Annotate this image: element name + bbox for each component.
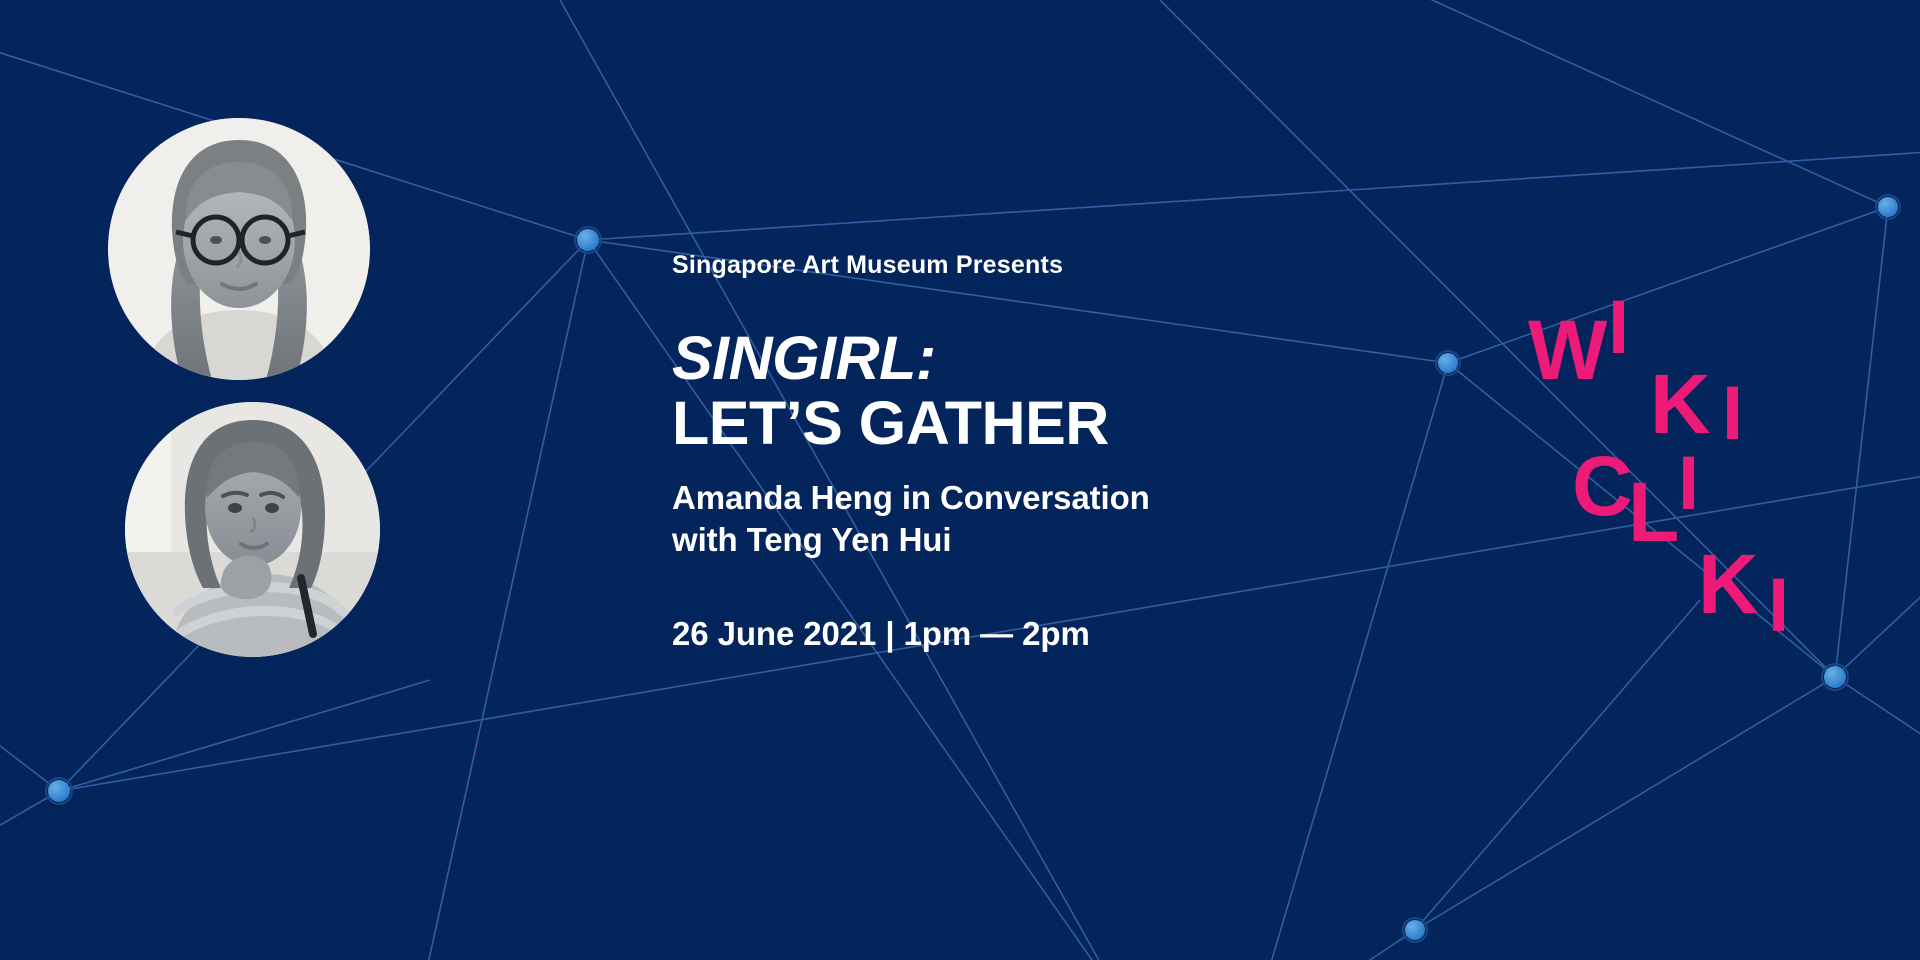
banner-copy: Singapore Art Museum Presents SINGIRL: L…	[672, 250, 1312, 653]
page-title: SINGIRL: LET’S GATHER	[672, 326, 1312, 457]
event-banner: Singapore Art Museum Presents SINGIRL: L…	[0, 0, 1920, 960]
logo-letter-c: C	[1572, 444, 1633, 528]
subtitle-line-1: Amanda Heng in Conversation	[672, 477, 1312, 519]
title-line-upper: LET’S GATHER	[672, 391, 1312, 456]
presenter-line: Singapore Art Museum Presents	[672, 250, 1312, 280]
date-time: 26 June 2021 | 1pm — 2pm	[672, 615, 1312, 653]
subtitle-line-2: with Teng Yen Hui	[672, 519, 1312, 561]
logo-letter-i4: I	[1768, 568, 1789, 644]
wikicliki-logo: W I K I C L I K I	[1520, 280, 1900, 680]
logo-letter-l: L	[1628, 470, 1679, 554]
logo-letter-k2: K	[1698, 542, 1759, 626]
portrait-amanda-heng	[108, 118, 370, 380]
logo-letter-i1: I	[1608, 290, 1629, 366]
logo-letter-i2: I	[1722, 376, 1743, 452]
title-line-italic: SINGIRL:	[672, 326, 1312, 391]
subtitle: Amanda Heng in Conversation with Teng Ye…	[672, 477, 1312, 561]
logo-letter-k1: K	[1650, 362, 1711, 446]
logo-letter-w1: W	[1528, 308, 1607, 392]
portrait-teng-yen-hui	[125, 402, 380, 657]
logo-letter-i3: I	[1678, 446, 1699, 522]
